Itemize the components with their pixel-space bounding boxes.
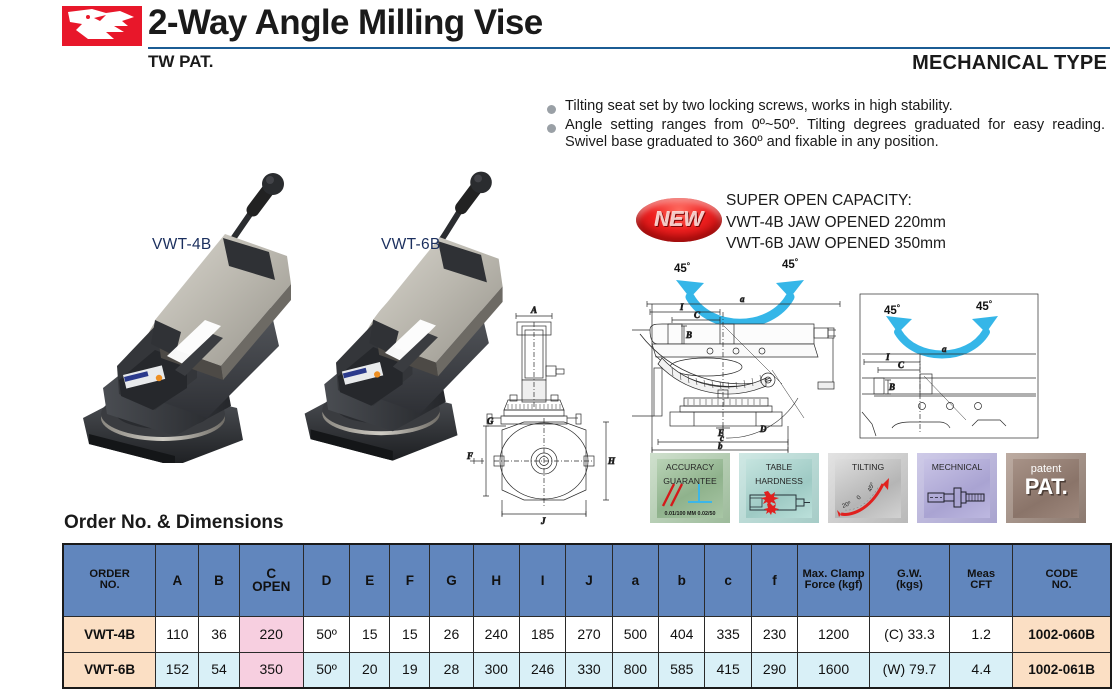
col-max-clamp-force: Max. Clamp Force (kgf) [798,544,870,616]
cell-h: 300 [473,652,519,688]
svg-text:45˚: 45˚ [674,263,691,275]
accuracy-icon [657,478,723,510]
cell-meas-cft: 1.2 [950,616,1013,652]
svg-text:45˚: 45˚ [884,305,901,317]
badge-inner: patent PAT. [1013,459,1079,518]
cell-i: 246 [519,652,565,688]
col-d: D [303,544,349,616]
table-row: VWT-4B 110 36 220 50º 15 15 26 240 185 2… [63,616,1111,652]
svg-text:45º: 45º [866,481,876,493]
cell-f-lower: 290 [751,652,797,688]
cell-e: 20 [350,652,390,688]
page-title: 2-Way Angle Milling Vise [148,3,543,43]
cell-g: 26 [430,616,473,652]
col-label-line2: (kgs) [870,580,949,592]
product-photos-svg [55,88,525,463]
cell-d: 50º [303,616,349,652]
svg-text:45˚: 45˚ [782,259,799,271]
col-b-lower: b [659,544,705,616]
cell-b: 54 [199,652,239,688]
col-label-line2: NO. [64,580,155,592]
cell-b: 36 [199,616,239,652]
dimensions-table: ORDER NO. A B C OPEN D E F G H I J a b c… [62,543,1112,689]
badge-label-line1: TILTING [835,459,901,473]
cell-a-lower: 500 [612,616,658,652]
technical-drawing-front-top: A [460,300,632,530]
badge-accuracy-guarantee: ACCURACY GUARANTEE 0.01/100 MM 0.02/50 [650,453,730,523]
photo-label-vwt6b: VWT-6B [381,236,441,254]
table-body: VWT-4B 110 36 220 50º 15 15 26 240 185 2… [63,616,1111,688]
patent-note: TW PAT. [148,52,213,72]
svg-text:F: F [466,451,473,461]
col-c-open: C OPEN [239,544,303,616]
svg-text:B: B [888,382,895,392]
mechanical-type-label: MECHANICAL TYPE [912,52,1107,75]
col-a-lower: a [612,544,658,616]
col-label-line2: OPEN [240,580,303,593]
cell-b-lower: 404 [659,616,705,652]
cell-j: 270 [566,616,612,652]
badge-label-line2: HARDNESS [746,473,812,487]
col-code-no: CODE NO. [1013,544,1111,616]
svg-text:I: I [679,302,684,312]
cell-f: 15 [390,616,430,652]
svg-text:0: 0 [856,494,863,501]
col-f-lower: f [751,544,797,616]
mechanical-screw-icon [924,482,990,512]
cell-max-clamp-force: 1200 [798,616,870,652]
cell-g: 28 [430,652,473,688]
cell-order-no: VWT-4B [63,616,156,652]
svg-text:H: H [607,456,616,466]
col-label-line2: CFT [950,580,1012,592]
table-title: Order No. & Dimensions [64,512,284,534]
col-h: H [473,544,519,616]
cell-order-no: VWT-6B [63,652,156,688]
col-c-lower: c [705,544,751,616]
badge-table-hardness: TABLE HARDNESS [739,453,819,523]
badge-inner: ACCURACY GUARANTEE 0.01/100 MM 0.02/50 [657,459,723,518]
photo-label-vwt4b: VWT-4B [152,236,212,254]
cell-gw: (W) 79.7 [869,652,949,688]
col-meas-cft: Meas CFT [950,544,1013,616]
feature-bullet-list: Tilting seat set by two locking screws, … [545,98,1105,153]
product-photo-group: VWT-4B VWT-6B [55,88,525,463]
cell-f: 19 [390,652,430,688]
badge-tilting: TILTING 20º 0 45º [828,453,908,523]
cell-e: 15 [350,616,390,652]
col-e: E [350,544,390,616]
title-underline [148,47,1110,49]
cell-max-clamp-force: 1600 [798,652,870,688]
badge-label-line2: PAT. [1013,475,1079,499]
badge-inner: MECHNICAL [924,459,990,518]
badge-inner: TILTING 20º 0 45º [835,459,901,518]
badge-label-line1: MECHNICAL [924,459,990,473]
col-order-no: ORDER NO. [63,544,156,616]
cell-c-open: 220 [239,616,303,652]
svg-text:C: C [694,310,701,320]
eagle-head-logo [62,6,142,46]
tilting-arc-icon: 20º 0 45º [835,474,901,518]
table-row: VWT-6B 152 54 350 50º 20 19 28 300 246 3… [63,652,1111,688]
svg-text:b: b [718,441,723,451]
svg-text:D: D [759,424,767,434]
list-item: Tilting seat set by two locking screws, … [545,98,1105,116]
cell-j: 330 [566,652,612,688]
table-header: ORDER NO. A B C OPEN D E F G H I J a b c… [63,544,1111,616]
svg-text:I: I [885,352,890,362]
feature-badge-row: ACCURACY GUARANTEE 0.01/100 MM 0.02/50 T… [650,453,1086,523]
cell-h: 240 [473,616,519,652]
page-header: 2-Way Angle Milling Vise TW PAT. MECHANI… [0,0,1117,88]
hardness-icon [746,487,812,515]
svg-text:a: a [740,294,745,304]
cell-meas-cft: 4.4 [950,652,1013,688]
badge-patent: patent PAT. [1006,453,1086,523]
svg-text:C: C [898,360,905,370]
col-b: B [199,544,239,616]
cell-a: 152 [156,652,199,688]
cell-c-lower: 335 [705,616,751,652]
col-a: A [156,544,199,616]
cell-c-lower: 415 [705,652,751,688]
badge-label-line1: patent [1013,459,1079,475]
col-f: F [390,544,430,616]
technical-drawing-tilt-detail: 45˚ 45˚ a I C B [858,292,1043,445]
badge-accuracy-spec: 0.01/100 MM 0.02/50 [657,511,723,517]
bullet-text: Tilting seat set by two locking screws, … [565,98,1105,116]
bullet-dot-icon [547,105,556,114]
cell-code-no: 1002-061B [1013,652,1111,688]
col-j: J [566,544,612,616]
cell-c-open: 350 [239,652,303,688]
badge-mechnical: MECHNICAL [917,453,997,523]
badge-inner: TABLE HARDNESS [746,459,812,518]
svg-text:20º: 20º [841,500,853,510]
cell-f-lower: 230 [751,616,797,652]
svg-text:a: a [942,344,947,354]
bullet-text: Angle setting ranges from 0º~50º. Tiltin… [565,117,1105,152]
svg-text:B: B [685,330,692,340]
col-gw: G.W. (kgs) [869,544,949,616]
svg-text:G: G [487,416,494,426]
new-badge: NEW [636,198,722,242]
technical-drawing-tilt-assembly: 45˚ 45˚ a I C B [632,252,848,462]
cell-d: 50º [303,652,349,688]
badge-label-line1: ACCURACY [657,459,723,473]
capacity-line-4b: VWT-4B JAW OPENED 220mm [726,212,946,234]
col-i: I [519,544,565,616]
svg-text:45˚: 45˚ [976,301,993,313]
table-header-row: ORDER NO. A B C OPEN D E F G H I J a b c… [63,544,1111,616]
capacity-heading: SUPER OPEN CAPACITY: [726,190,946,212]
new-badge-label: NEW [636,198,722,242]
bullet-dot-icon [547,124,556,133]
cell-gw: (C) 33.3 [869,616,949,652]
col-label-line2: NO. [1013,580,1110,592]
badge-label-line1: TABLE [746,459,812,473]
super-open-capacity-block: SUPER OPEN CAPACITY: VWT-4B JAW OPENED 2… [726,190,946,255]
svg-text:J: J [540,516,546,525]
cell-a: 110 [156,616,199,652]
cell-i: 185 [519,616,565,652]
svg-text:A: A [530,305,537,315]
col-g: G [430,544,473,616]
cell-b-lower: 585 [659,652,705,688]
cell-code-no: 1002-060B [1013,616,1111,652]
cell-a-lower: 800 [612,652,658,688]
list-item: Angle setting ranges from 0º~50º. Tiltin… [545,117,1105,152]
